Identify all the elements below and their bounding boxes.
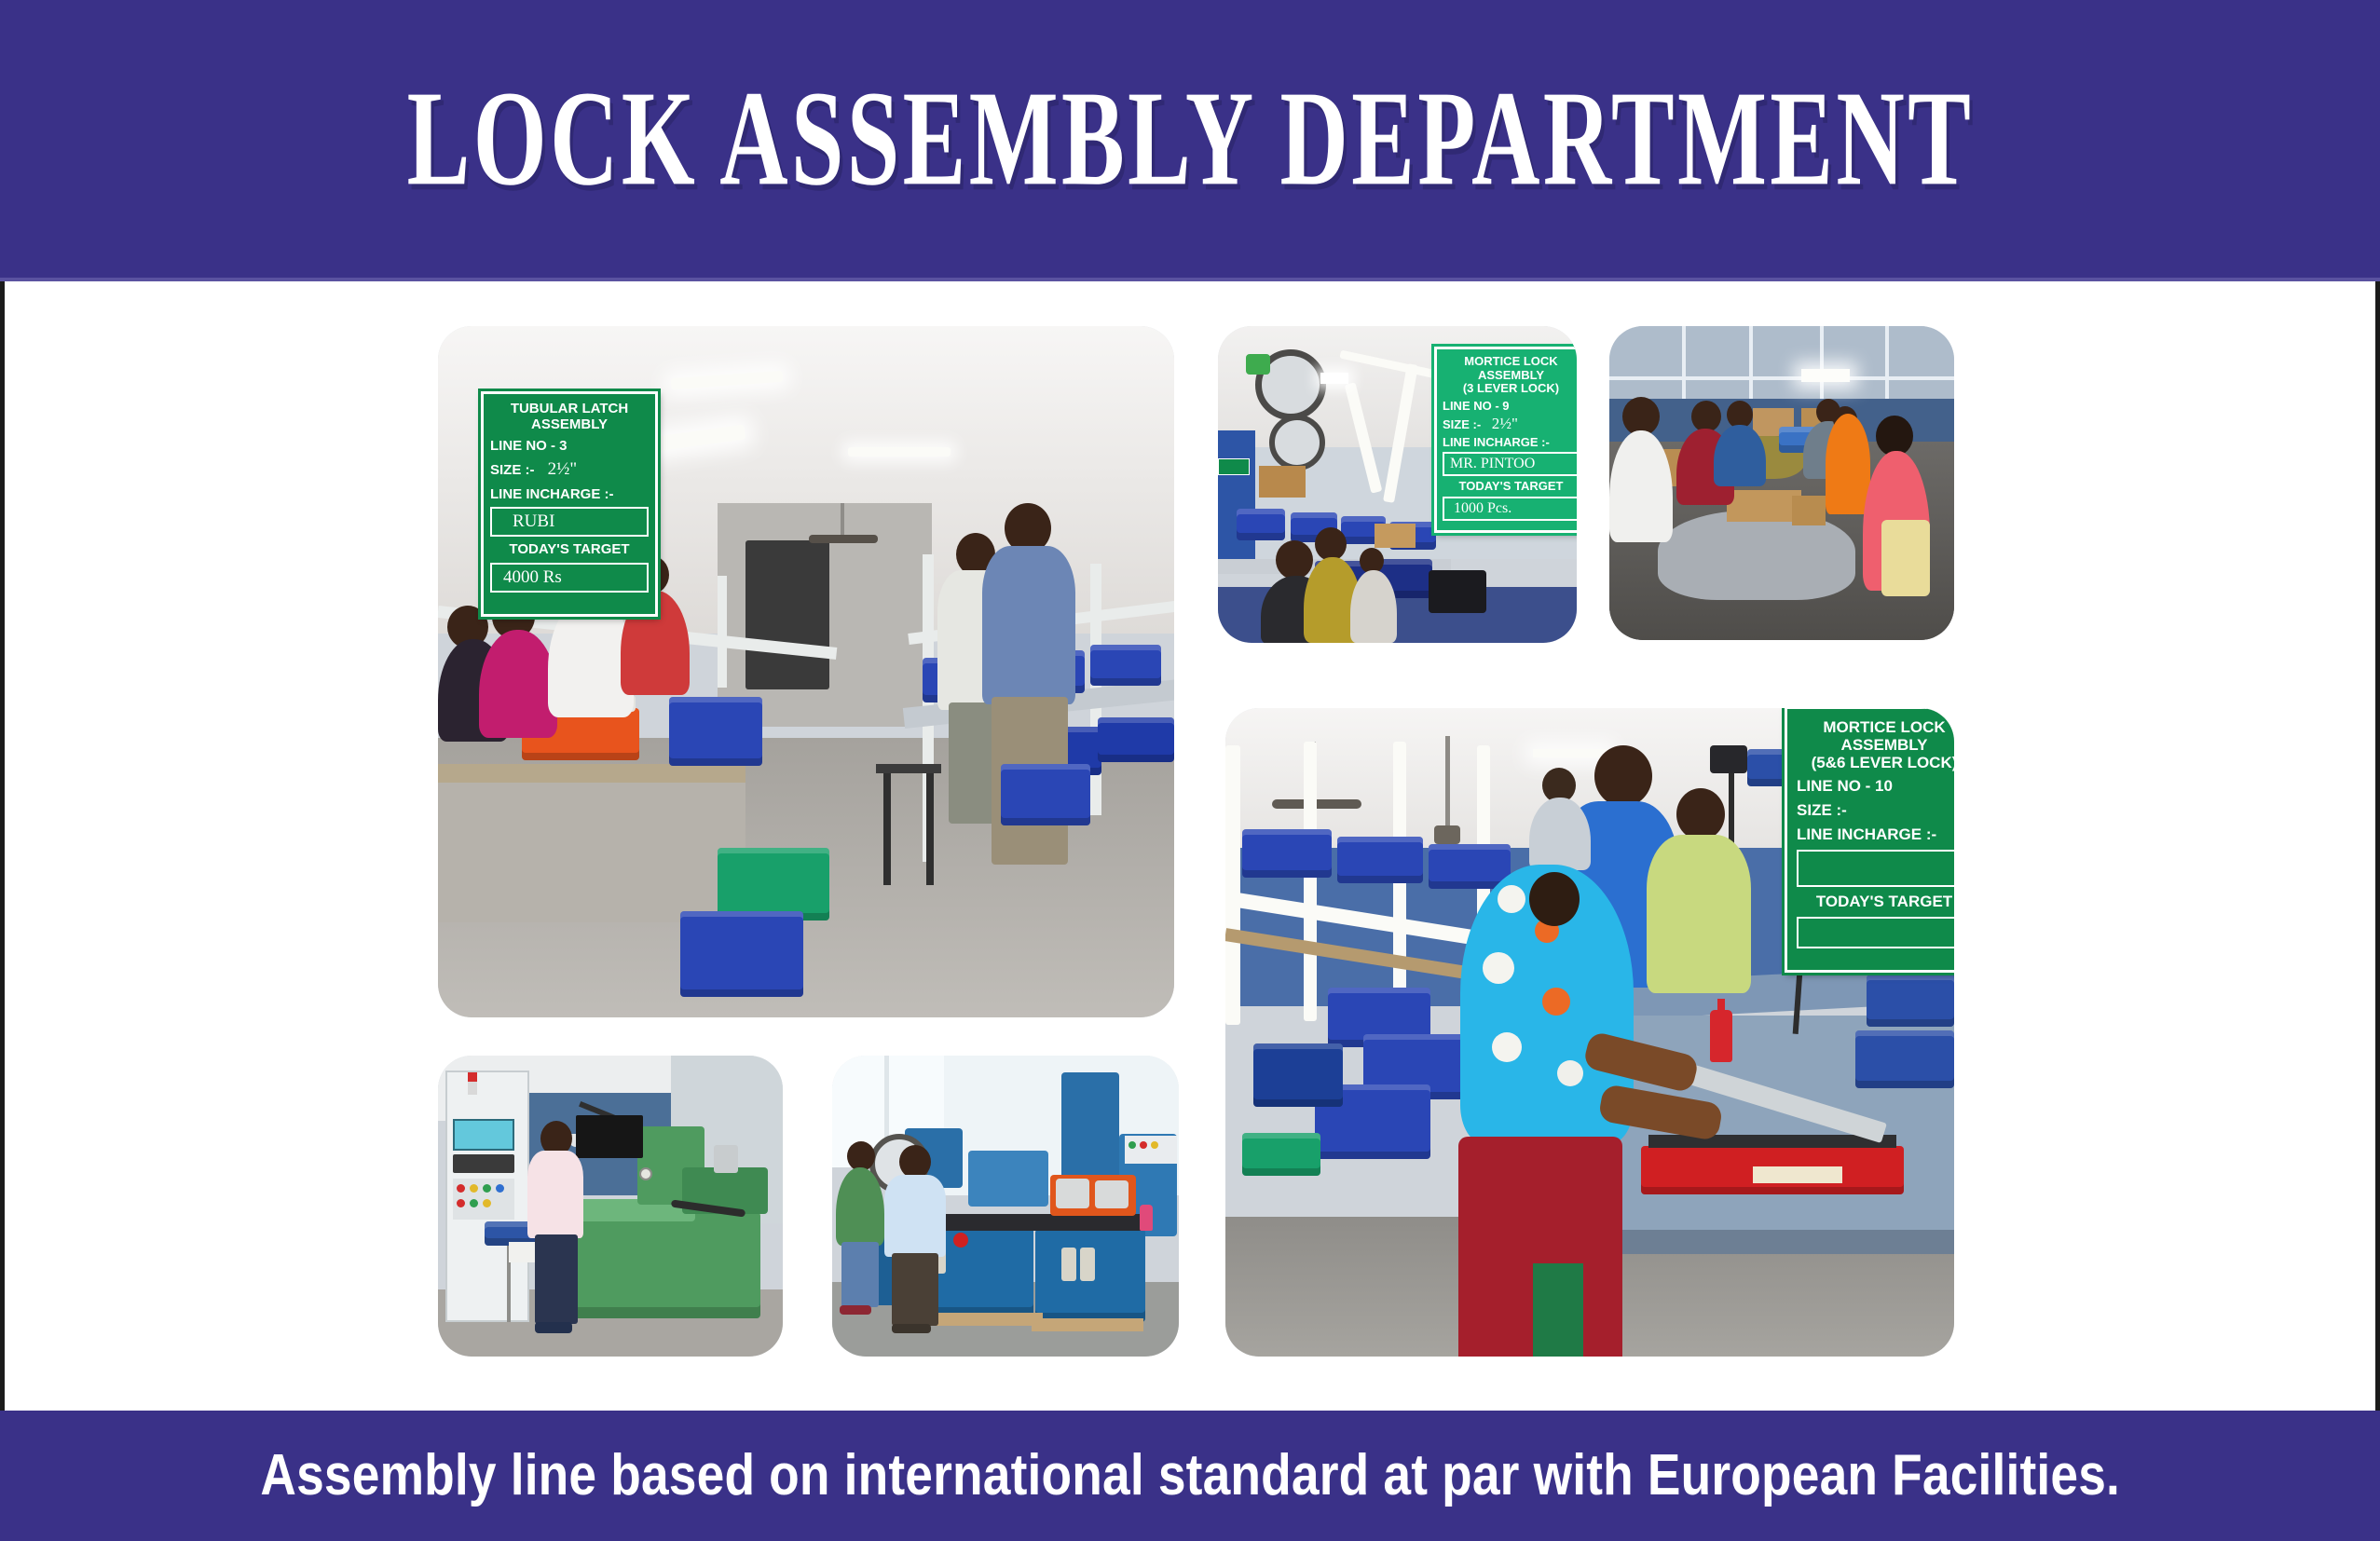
saree-green-panel [1533,1263,1583,1357]
ceiling-fan [809,535,878,543]
fan-rod [841,503,844,537]
indicator-light [483,1184,491,1193]
sign-incharge-label: LINE INCHARGE :- [1797,825,1954,844]
sign-target-label: TODAY'S TARGET [1443,479,1577,493]
shelf-crate [1337,837,1423,883]
ceiling-light [1320,373,1348,384]
footer-band: Assembly line based on international sta… [0,1411,2380,1541]
worker-green-shirt [1647,835,1751,993]
shelf-crate [1242,829,1332,878]
worker-body [982,546,1075,704]
sign-title-line-1: MORTICE LOCK [1443,355,1577,369]
worker-body-orange-dupatta [1826,414,1870,514]
line-sign-mortice-3-lever: MORTICE LOCK ASSEMBLY (3 LEVER LOCK) LIN… [1434,347,1577,533]
supervisor-head [899,1145,931,1179]
worker-head [1529,872,1580,926]
operator-shoe [535,1322,572,1333]
pressure-gauge [639,1167,652,1180]
worker-body [479,630,557,738]
worker-body [1714,425,1766,486]
wood-pallet [922,1313,1043,1326]
dupatta-motif [1492,1032,1522,1062]
sign-incharge-value: MR. PINTOO [1443,452,1577,476]
hmi-screen [453,1119,514,1151]
frame-post [1304,742,1317,1021]
stool-leg [926,773,934,885]
mullion [1820,326,1824,399]
mullion [1749,326,1753,399]
indicator-light [1140,1141,1147,1149]
photo-scene [1609,326,1954,640]
keypad [453,1154,514,1173]
sign-title-line-3: (3 LEVER LOCK) [1443,382,1577,396]
far-rack [745,540,829,689]
bench-underside [438,783,745,922]
balancer-unit [1710,745,1747,773]
frame-post [1225,745,1240,1025]
sign-target-label: TODAY'S TARGET [1797,893,1954,911]
sign-title-line-1: MORTICE LOCK [1797,718,1954,736]
oil-bottle [1140,1205,1153,1231]
worker-head [1676,788,1725,840]
rail-post [718,576,727,688]
footer-caption: Assembly line based on international sta… [260,1447,2120,1505]
sign-target-value: 4000 Rs [490,563,649,593]
photo-mortice-lock-3-lever-line: MORTICE LOCK ASSEMBLY (3 LEVER LOCK) LIN… [1218,326,1577,643]
supervisor-shirt [884,1175,946,1257]
sign-title-line-2: ASSEMBLY [1797,736,1954,754]
floor-crate [1253,1043,1343,1107]
photo-mortice-lock-5-6-lever-line: MORTICE LOCK ASSEMBLY (5&6 LEVER LOCK) L… [1225,708,1954,1357]
indicator-light [483,1199,491,1207]
floor-crate [718,848,829,921]
photo-packing-and-sorting-area [1609,326,1954,640]
indicator-light [1151,1141,1158,1149]
carton [1792,496,1826,525]
photo-blue-forming-machines [832,1056,1179,1357]
line-sign-mortice-5-6-lever: MORTICE LOCK ASSEMBLY (5&6 LEVER LOCK) L… [1785,708,1954,973]
monitor [576,1115,643,1158]
frl-unit [1061,1248,1076,1281]
wood-pallet [1032,1318,1143,1331]
floor-crate [680,911,803,997]
work-bench [438,764,745,783]
worker-head [1594,745,1652,807]
sign-incharge-label: LINE INCHARGE :- [490,486,649,503]
emergency-stop [953,1233,968,1248]
floor-crate [1001,764,1090,825]
sign-size-label: SIZE :- [1797,801,1954,820]
tower-lamp-red [468,1072,477,1082]
supervisor-shoe [892,1324,931,1333]
sign-size-value: 2½" [1492,415,1518,432]
packed-bags-heap [1658,511,1855,600]
photo-tubular-latch-assembly-line: TUBULAR LATCH ASSEMBLY LINE NO - 3 SIZE … [438,326,1174,1017]
shelf-crate [1867,975,1954,1027]
tool-bag [1429,570,1486,613]
sign-incharge-value [1797,850,1954,887]
material-sign [1218,458,1250,475]
parts-crate [1098,717,1174,762]
indicator-light [457,1184,465,1193]
dupatta-motif [1483,952,1514,984]
machine-label [1753,1166,1842,1183]
ceiling-light [1801,369,1850,382]
mullion [1885,326,1889,399]
supervisor-trousers [892,1253,938,1326]
poster-page: LOCK ASSEMBLY DEPARTMENT [0,0,2380,1541]
ceiling-fan [1272,799,1361,809]
stool-leg [883,773,891,885]
indicator-light [496,1184,504,1193]
sign-line-no: LINE NO - 9 [1443,399,1577,413]
oil-bottle-nozzle [1717,999,1725,1012]
blue-machine-head [968,1151,1048,1207]
fan-motor [1246,354,1270,375]
sign-title-line-3: (5&6 LEVER LOCK) [1797,754,1954,771]
indicator-light [1128,1141,1136,1149]
photo-cnc-grinding-machine [438,1056,783,1357]
photo-gallery: TUBULAR LATCH ASSEMBLY LINE NO - 3 SIZE … [5,282,2375,1405]
parts-crate [1090,645,1161,686]
parts-crate [669,697,762,766]
hanger-rod [1445,736,1450,829]
frl-unit [1080,1248,1095,1281]
machine-tabletop [925,1214,1145,1231]
operator-shirt [527,1151,583,1238]
motor [714,1145,738,1173]
sign-title-line-2: ASSEMBLY [1443,369,1577,383]
roller [1095,1180,1128,1208]
hanger-fixture [1434,825,1460,844]
sign-title-line-2: ASSEMBLY [490,417,649,433]
sign-target-value: 1000 Pcs. [1443,497,1577,521]
worker-saree-pallu [1881,520,1930,596]
glass-partition [1609,326,1954,399]
carton [1259,466,1306,498]
ceiling-light [848,447,951,457]
sign-size-label: SIZE :- [490,462,535,478]
carton [1727,490,1801,522]
sign-size-row: SIZE :- 2½" [490,459,649,480]
worker-head [1276,540,1313,580]
ceiling-light [1533,749,1607,757]
photo-scene [438,1056,783,1357]
page-title: LOCK ASSEMBLY DEPARTMENT [406,71,1974,207]
sign-target-value [1797,917,1954,948]
operator-trousers [535,1234,578,1324]
sign-incharge-label: LINE INCHARGE :- [1443,435,1577,449]
indicator-light [470,1199,478,1207]
mullion [1609,376,1954,380]
sign-incharge-value: RUBI [490,507,649,537]
worker-head [1315,527,1347,561]
indicator-light [457,1199,465,1207]
dupatta-motif [1498,885,1525,913]
roller [1056,1179,1089,1208]
sign-target-label: TODAY'S TARGET [490,541,649,558]
sign-size-row: SIZE :- 2½" [1443,415,1577,433]
photo-scene [832,1056,1179,1357]
grinder-base [574,1212,760,1318]
header-band: LOCK ASSEMBLY DEPARTMENT [0,0,2380,281]
worker-head [1691,401,1721,432]
worker-shoe [840,1305,871,1315]
sign-title-line-1: TUBULAR LATCH [490,402,649,417]
parts-crate [1237,509,1285,540]
dupatta-motif [1542,988,1570,1016]
carton [1375,524,1416,548]
indicator-light [470,1184,478,1193]
sign-line-no: LINE NO - 3 [490,438,649,455]
dupatta-motif [1557,1060,1583,1086]
oil-bottle [1710,1010,1732,1062]
sign-size-value: 2½" [548,459,578,479]
sign-line-no: LINE NO - 10 [1797,777,1954,796]
stool-seat [876,764,941,773]
wall-fan [1269,415,1325,470]
blue-cabinet [1218,430,1255,561]
line-sign-tubular-latch: TUBULAR LATCH ASSEMBLY LINE NO - 3 SIZE … [481,391,658,617]
control-board [1125,1136,1177,1164]
doc-holder [509,1242,535,1262]
shelf-crate [1855,1030,1954,1088]
mullion [1682,326,1686,399]
worker-jeans [841,1242,879,1307]
sign-size-label: SIZE :- [1443,417,1481,431]
floor-crate [1242,1133,1320,1176]
